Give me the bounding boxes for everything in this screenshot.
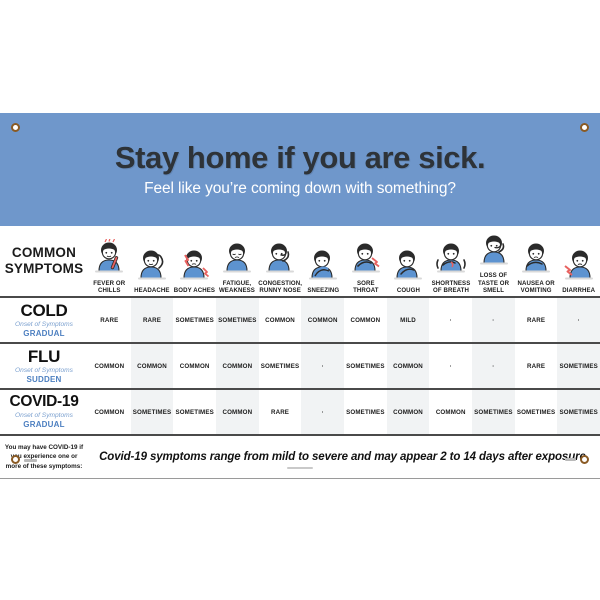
person-sneezing-icon [306, 246, 340, 286]
symptom-header-cough: COUGH [387, 226, 430, 296]
bottom-left-tick [24, 459, 37, 462]
symptom-label: CONGESTION, RUNNY NOSE [258, 280, 302, 294]
bottom-right-tick [565, 458, 576, 461]
symptom-header-headache: HEADACHE [131, 226, 174, 296]
cell: MILD [387, 298, 430, 342]
symptom-header-body-aches: BODY ACHES [173, 226, 216, 296]
onset-value: GRADUAL [23, 420, 64, 430]
cell: COMMON [216, 390, 259, 434]
person-body-aches-icon [177, 246, 211, 286]
cell: SOMETIMES [216, 298, 259, 342]
symptom-header-nausea: NAUSEA OR VOMITING [515, 226, 558, 296]
grommet-bottom-right-icon [580, 455, 589, 464]
cell: · [429, 298, 472, 342]
cell: RARE [259, 390, 302, 434]
cell: COMMON [387, 390, 430, 434]
cell: · [301, 390, 344, 434]
symptom-header-shortness-breath: SHORTNESS OF BREATH [430, 226, 473, 296]
disease-name: COVID-19 [9, 394, 78, 410]
person-shortness-breath-icon [434, 239, 468, 279]
symptom-label: SORE THROAT [345, 280, 388, 294]
disease-label-covid19: COVID-19 Onset of Symptoms GRADUAL [0, 390, 88, 434]
symptom-label: SNEEZING [307, 287, 339, 294]
cell: · [301, 344, 344, 388]
symptom-comparison-table: COMMON SYMPTOMS FEVER OR CHILLS [0, 226, 600, 479]
disease-name: FLU [28, 348, 60, 365]
person-sore-throat-icon [349, 239, 383, 279]
symptom-label: FATIGUE, WEAKNESS [216, 280, 259, 294]
symptom-label: NAUSEA OR VOMITING [515, 280, 558, 294]
symptom-label: HEADACHE [134, 287, 169, 294]
person-fatigue-icon [220, 239, 254, 279]
cell: COMMON [259, 298, 302, 342]
banner-sign: Stay home if you are sick. Feel like you… [0, 113, 600, 475]
flu-value-cells: COMMON COMMON COMMON COMMON SOMETIMES · … [88, 344, 600, 388]
cell: SOMETIMES [515, 390, 558, 434]
symptom-header-sneezing: SNEEZING [302, 226, 345, 296]
cell: COMMON [88, 390, 131, 434]
symptom-label: FEVER OR CHILLS [88, 280, 131, 294]
table-corner-label: COMMON SYMPTOMS [0, 226, 88, 296]
cell: COMMON [344, 298, 387, 342]
cell: SOMETIMES [472, 390, 515, 434]
symptom-header-diarrhea: DIARRHEA [557, 226, 600, 296]
person-thermometer-icon [92, 239, 126, 279]
cell: RARE [131, 298, 174, 342]
person-runny-nose-icon [263, 239, 297, 279]
cell: COMMON [216, 344, 259, 388]
table-row-flu: FLU Onset of Symptoms SUDDEN COMMON COMM… [0, 344, 600, 388]
page-subtitle: Feel like you’re coming down with someth… [144, 180, 456, 197]
person-nausea-icon [519, 239, 553, 279]
symptom-header-loss-taste-smell: LOSS OF TASTE OR SMELL [472, 226, 515, 296]
symptom-label: LOSS OF TASTE OR SMELL [472, 272, 515, 294]
symptom-label: DIARRHEA [562, 287, 595, 294]
person-diarrhea-icon [562, 246, 596, 286]
cell: COMMON [387, 344, 430, 388]
table-header-row: COMMON SYMPTOMS FEVER OR CHILLS [0, 226, 600, 296]
person-headache-icon [135, 246, 169, 286]
symptom-header-fever: FEVER OR CHILLS [88, 226, 131, 296]
cell: · [472, 298, 515, 342]
symptom-header-sore-throat: SORE THROAT [345, 226, 388, 296]
cell: SOMETIMES [344, 344, 387, 388]
table-row-covid19: COVID-19 Onset of Symptoms GRADUAL COMMO… [0, 390, 600, 434]
cell: RARE [88, 298, 131, 342]
grommet-bottom-left-icon [11, 455, 20, 464]
table-footer-row: You may have COVID-19 if you experience … [0, 436, 600, 478]
onset-value: SUDDEN [27, 375, 62, 385]
cell: SOMETIMES [173, 390, 216, 434]
cell: RARE [515, 298, 558, 342]
cell: COMMON [429, 390, 472, 434]
cell: SOMETIMES [259, 344, 302, 388]
covid-range-message: Covid-19 symptoms range from mild to sev… [88, 436, 600, 478]
disease-name: COLD [21, 302, 68, 319]
cell: COMMON [88, 344, 131, 388]
cell: · [429, 344, 472, 388]
table-row-cold: COLD Onset of Symptoms GRADUAL RARE RARE… [0, 298, 600, 342]
grommet-top-left-icon [11, 123, 20, 132]
cell: COMMON [131, 344, 174, 388]
disease-label-flu: FLU Onset of Symptoms SUDDEN [0, 344, 88, 388]
disease-label-cold: COLD Onset of Symptoms GRADUAL [0, 298, 88, 342]
banner-header: Stay home if you are sick. Feel like you… [0, 113, 600, 226]
table-bottom-divider [0, 478, 600, 479]
onset-label: Onset of Symptoms [15, 321, 73, 329]
cell: SOMETIMES [131, 390, 174, 434]
covid19-value-cells: COMMON SOMETIMES SOMETIMES COMMON RARE ·… [88, 390, 600, 434]
cold-value-cells: RARE RARE SOMETIMES SOMETIMES COMMON COM… [88, 298, 600, 342]
cell: SOMETIMES [173, 298, 216, 342]
grommet-top-right-icon [580, 123, 589, 132]
cell: RARE [515, 344, 558, 388]
cell: COMMON [173, 344, 216, 388]
cell: SOMETIMES [344, 390, 387, 434]
cell: · [472, 344, 515, 388]
symptom-label: BODY ACHES [174, 287, 215, 294]
symptom-label: SHORTNESS OF BREATH [430, 280, 473, 294]
onset-value: GRADUAL [23, 329, 64, 339]
bottom-center-tick [287, 467, 313, 469]
onset-label: Onset of Symptoms [15, 367, 73, 375]
symptom-header-fatigue: FATIGUE, WEAKNESS [216, 226, 259, 296]
page-title: Stay home if you are sick. [115, 142, 485, 175]
person-loss-taste-smell-icon [477, 231, 511, 271]
symptom-header-cells: FEVER OR CHILLS HEADACHE [88, 226, 600, 296]
cell: COMMON [301, 298, 344, 342]
onset-label: Onset of Symptoms [15, 412, 73, 420]
person-cough-icon [391, 246, 425, 286]
symptom-label: COUGH [397, 287, 420, 294]
cell: SOMETIMES [557, 344, 600, 388]
cell: · [557, 298, 600, 342]
symptom-header-congestion: CONGESTION, RUNNY NOSE [258, 226, 302, 296]
cell: SOMETIMES [557, 390, 600, 434]
